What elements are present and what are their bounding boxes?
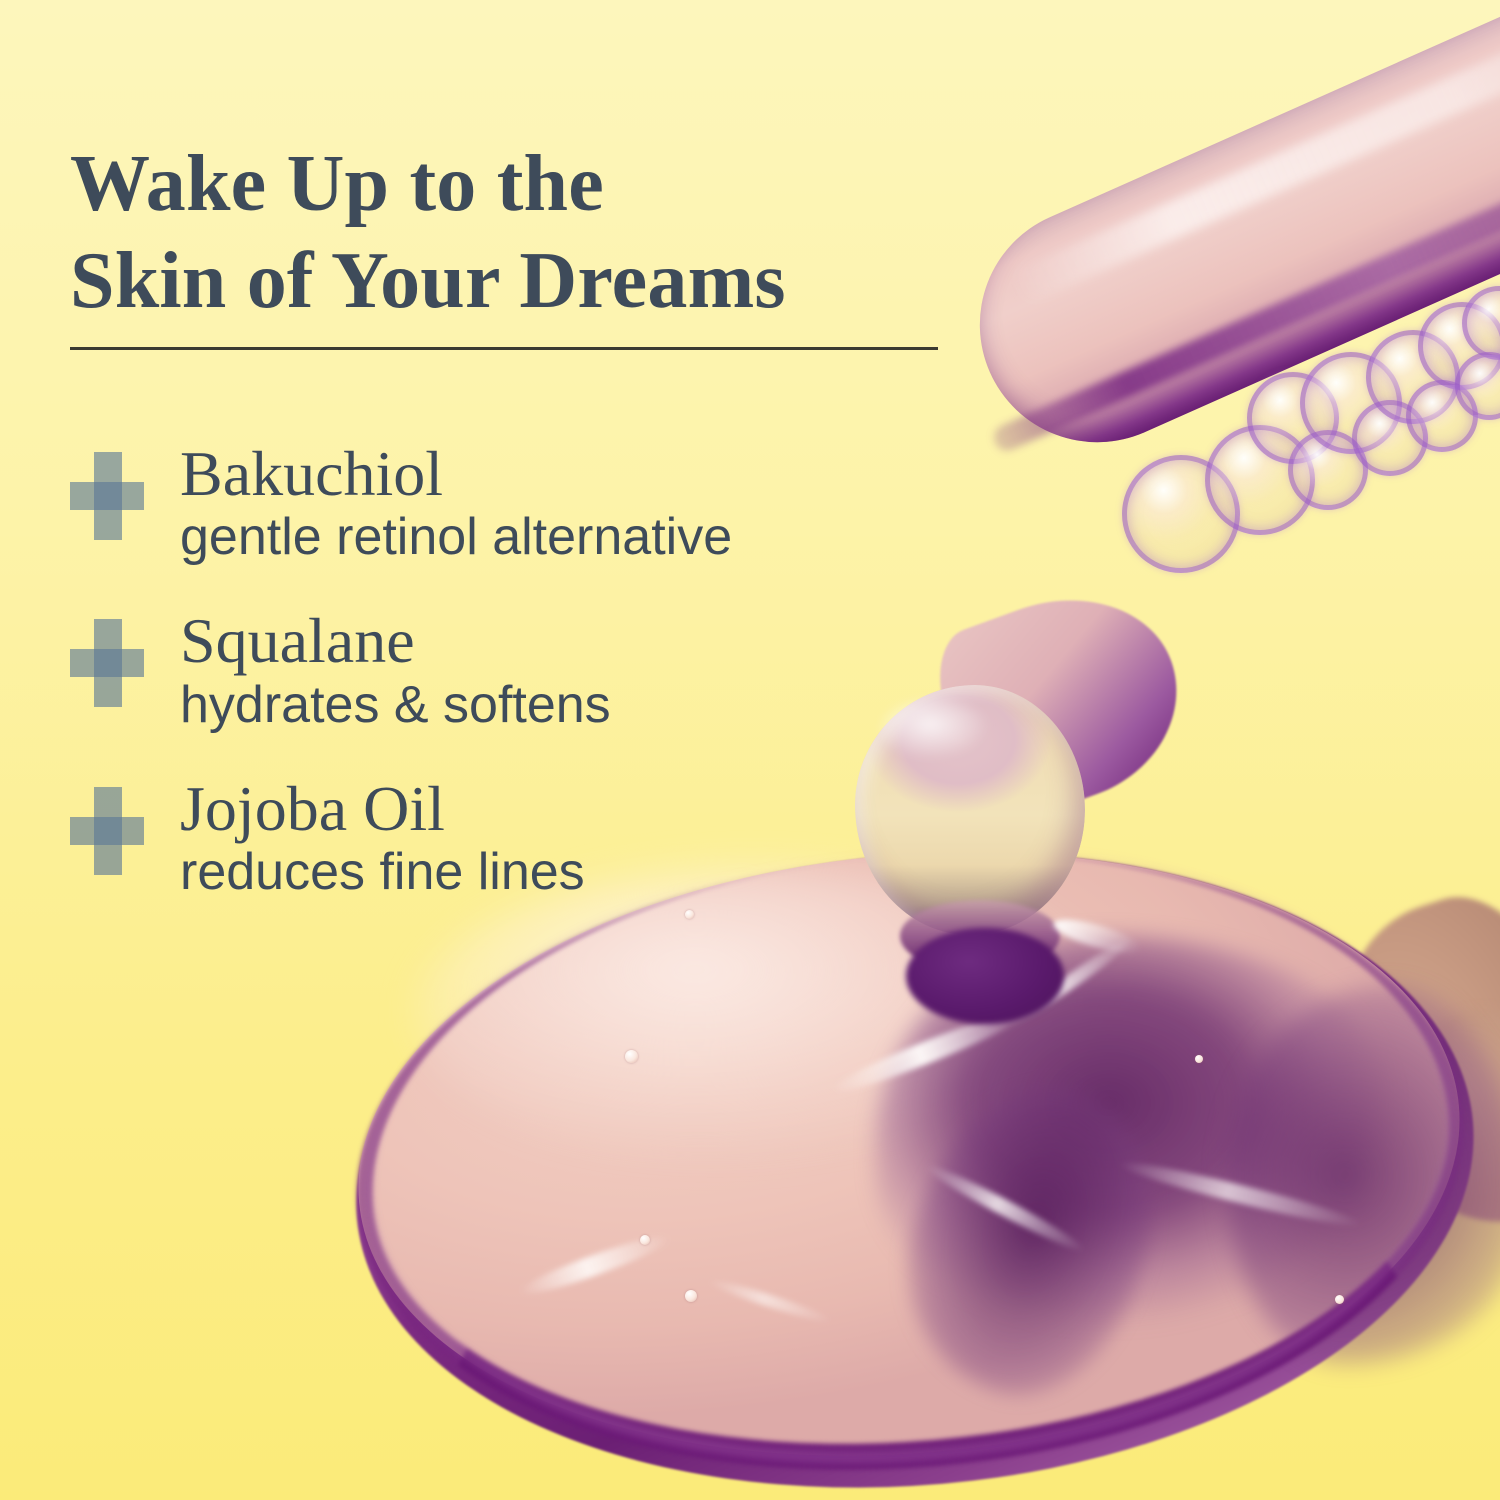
- feature-subtitle: gentle retinol alternative: [180, 509, 1008, 566]
- micro-bubble: [625, 1050, 638, 1063]
- list-item: Squalane hydrates & softens: [68, 607, 1008, 733]
- micro-bubble: [1335, 1295, 1344, 1304]
- page-title: Wake Up to the Skin of Your Dreams: [70, 136, 970, 331]
- feature-subtitle: reduces fine lines: [180, 844, 1008, 901]
- product-benefits-graphic: Wake Up to the Skin of Your Dreams Bakuc…: [0, 0, 1500, 1500]
- title-divider: [70, 347, 938, 350]
- micro-bubble: [640, 1235, 650, 1245]
- list-item: Bakuchiol gentle retinol alternative: [68, 440, 1008, 566]
- plus-icon: [70, 787, 144, 875]
- list-item: Jojoba Oil reduces fine lines: [68, 775, 1008, 901]
- headline-line-2: Skin of Your Dreams: [70, 237, 786, 325]
- plus-icon: [70, 619, 144, 707]
- micro-bubble: [685, 910, 694, 919]
- feature-list: Bakuchiol gentle retinol alternative Squ…: [68, 440, 1008, 901]
- feature-title: Squalane: [180, 607, 1008, 674]
- plus-icon-horizontal-bar: [70, 649, 144, 677]
- feature-title: Bakuchiol: [180, 440, 1008, 507]
- feature-subtitle: hydrates & softens: [180, 677, 1008, 734]
- micro-bubble: [1195, 1055, 1203, 1063]
- plus-icon-horizontal-bar: [70, 482, 144, 510]
- droplet-contact-shadow: [906, 928, 1064, 1024]
- feature-title: Jojoba Oil: [180, 775, 1008, 842]
- micro-bubble: [685, 1290, 697, 1302]
- plus-icon-horizontal-bar: [70, 817, 144, 845]
- headline-line-1: Wake Up to the: [70, 140, 604, 228]
- plus-icon: [70, 452, 144, 540]
